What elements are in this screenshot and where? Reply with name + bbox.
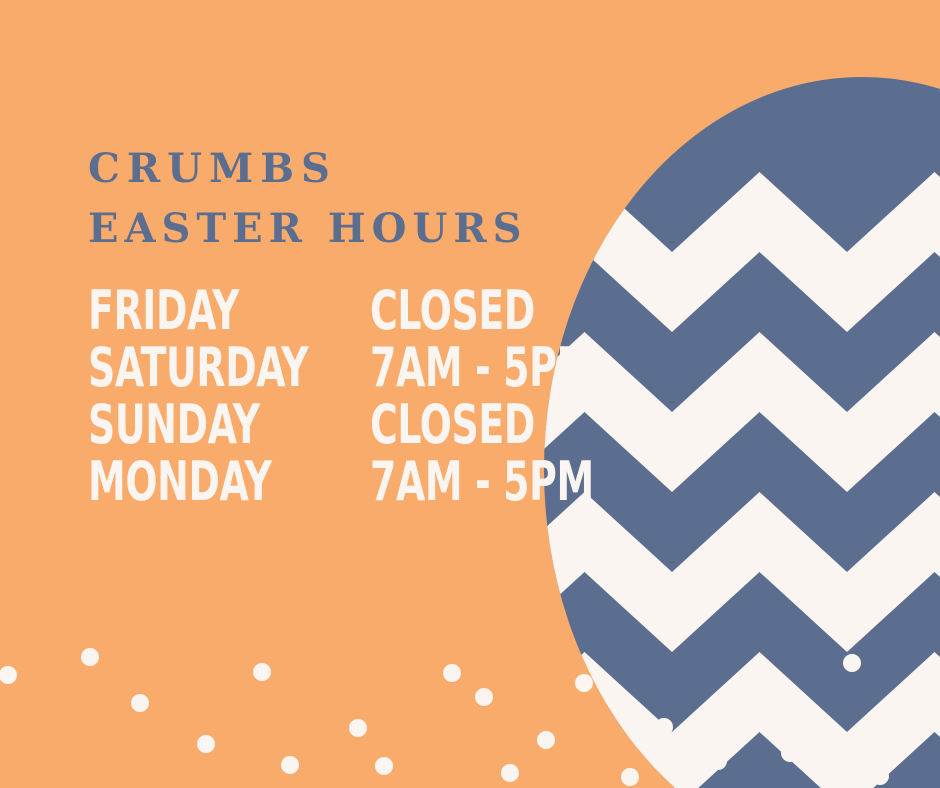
confetti-dot [781, 744, 799, 762]
confetti-dot [871, 767, 889, 785]
confetti-dot [281, 756, 299, 774]
confetti-dot [655, 718, 673, 736]
hours-table: FRIDAY CLOSED SATURDAY 7AM - 5PM SUNDAY … [88, 282, 657, 510]
table-row: SATURDAY 7AM - 5PM [88, 339, 657, 396]
confetti-dot [901, 726, 919, 744]
confetti-dot [443, 664, 461, 682]
confetti-dot [843, 654, 861, 672]
easter-hours-poster: CRUMBS EASTER HOURS FRIDAY CLOSED SATURD… [0, 0, 940, 788]
confetti-dot [197, 735, 215, 753]
confetti-dot [131, 694, 149, 712]
poster-text-block: CRUMBS EASTER HOURS FRIDAY CLOSED SATURD… [88, 140, 558, 510]
hours-row-day: SUNDAY [88, 396, 308, 453]
confetti-dot [721, 691, 739, 709]
hours-row-day: SATURDAY [88, 339, 308, 396]
hours-row-time: CLOSED [370, 282, 594, 339]
confetti-dot [537, 731, 555, 749]
confetti-dot [349, 719, 367, 737]
table-row: FRIDAY CLOSED [88, 282, 657, 339]
confetti-dot [575, 674, 593, 692]
confetti-dot [475, 688, 493, 706]
hours-row-day: MONDAY [88, 453, 308, 510]
table-row: SUNDAY CLOSED [88, 396, 657, 453]
confetti-dot [0, 666, 17, 684]
confetti-dot [253, 663, 271, 681]
confetti-dot [709, 752, 727, 770]
brand-name-heading: CRUMBS [88, 140, 558, 198]
hours-row-time: CLOSED [370, 396, 594, 453]
table-row: MONDAY 7AM - 5PM [88, 453, 657, 510]
easter-hours-heading: EASTER HOURS [88, 200, 558, 258]
hours-row-time: 7AM - 5PM [370, 339, 594, 396]
confetti-dot [375, 757, 393, 775]
confetti-dot [845, 731, 863, 749]
confetti-dot [927, 688, 940, 706]
confetti-dot [621, 768, 639, 786]
hours-row-day: FRIDAY [88, 282, 308, 339]
confetti-dot [501, 764, 519, 782]
hours-row-time: 7AM - 5PM [370, 453, 594, 510]
confetti-dot [81, 648, 99, 666]
